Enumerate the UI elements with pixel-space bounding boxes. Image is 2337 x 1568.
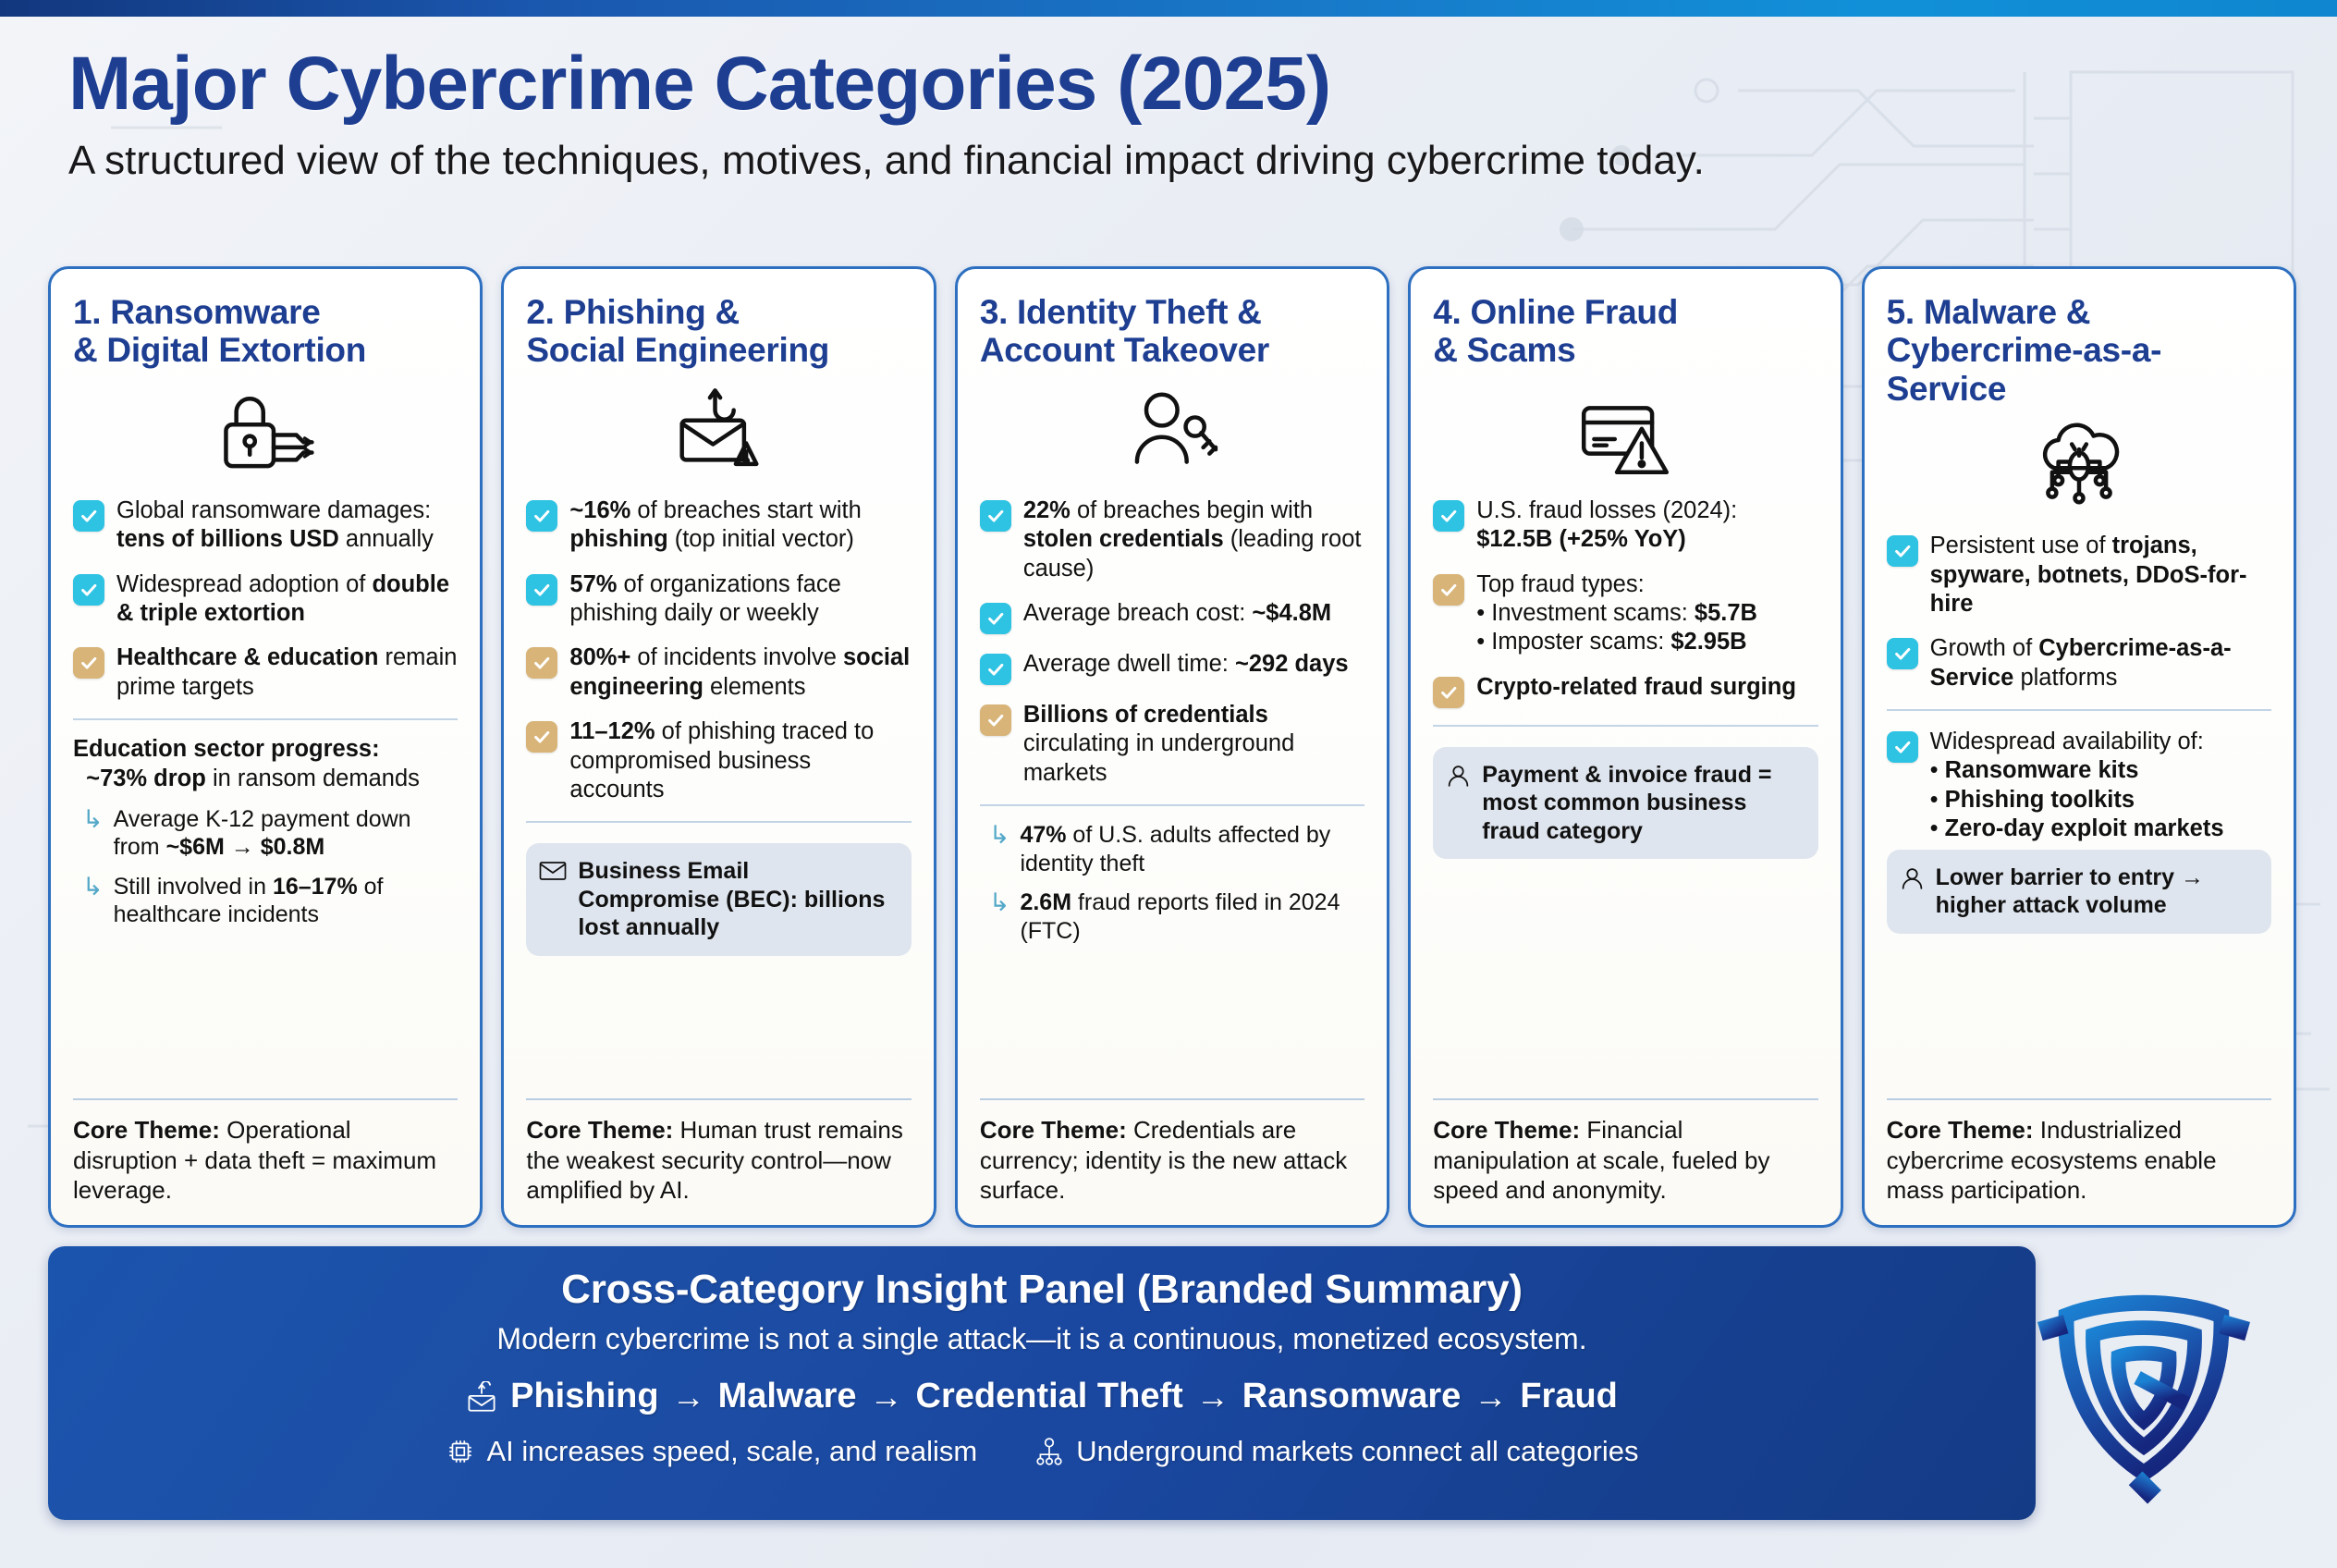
core-theme: Core Theme: Operational disruption + dat… <box>73 1098 458 1205</box>
panel-note-text: AI increases speed, scale, and realism <box>487 1435 978 1468</box>
header: Major Cybercrime Categories (2025) A str… <box>68 44 2269 185</box>
padlock-data-icon <box>73 376 458 485</box>
sub-heading: Education sector progress: ~73% drop in … <box>73 735 458 793</box>
bullet-item: Healthcare & education remain prime targ… <box>73 643 458 702</box>
bullet-item: 22% of breaches begin with stolen creden… <box>980 496 1364 583</box>
panel-title: Cross-Category Insight Panel (Branded Su… <box>561 1267 1523 1313</box>
sub-item: ↳ 2.6M fraud reports filed in 2024 (FTC) <box>980 888 1364 945</box>
callout-text: Payment & invoice fraud = most common bu… <box>1482 761 1803 846</box>
check-icon <box>1433 677 1464 708</box>
bullet-item: Billions of credentials circulating in u… <box>980 701 1364 788</box>
bullet-text: Healthcare & education remain prime targ… <box>116 643 458 702</box>
check-icon <box>1887 638 1918 669</box>
core-theme-label: Core Theme: <box>73 1116 220 1144</box>
core-theme: Core Theme: Financial manipulation at sc… <box>1433 1098 1817 1205</box>
bullet-text: 22% of breaches begin with stolen creden… <box>1023 496 1364 583</box>
check-icon <box>73 647 104 679</box>
check-icon <box>980 500 1011 532</box>
bullet-item: Crypto-related fraud surging <box>1433 673 1817 708</box>
bullet-text: 11–12% of phishing traced to compromised… <box>569 717 911 804</box>
sub-item-text: 2.6M fraud reports filed in 2024 (FTC) <box>1020 888 1364 945</box>
category-card-1[interactable]: 1. Ransomware& Digital Extortion Global … <box>48 266 483 1228</box>
check-icon <box>980 654 1011 685</box>
bullet-item: Persistent use of trojans, spyware, botn… <box>1887 532 2271 619</box>
bullet-text: Widespread adoption of double & triple e… <box>116 570 458 629</box>
corner-arrow-icon: ↳ <box>82 806 104 834</box>
callout-text: Business Email Compromise (BEC): billion… <box>578 857 896 942</box>
panel-subtitle: Modern cybercrime is not a single attack… <box>496 1322 1586 1356</box>
core-theme-label: Core Theme: <box>526 1116 673 1144</box>
corner-arrow-icon: ↳ <box>989 889 1010 917</box>
check-icon <box>526 647 557 679</box>
sub-item-text: 47% of U.S. adults affected by identity … <box>1020 821 1364 877</box>
category-card-4[interactable]: 4. Online Fraud& Scams U.S. fraud losses… <box>1408 266 1842 1228</box>
chain-step-2: Malware <box>718 1377 857 1416</box>
bullet-text: Average dwell time: ~292 days <box>1023 650 1349 679</box>
bullet-item: U.S. fraud losses (2024):$12.5B (+25% Yo… <box>1433 496 1817 555</box>
check-icon <box>980 603 1011 634</box>
bullet-item: Average breach cost: ~$4.8M <box>980 599 1364 634</box>
bullet-list: Global ransomware damages: tens of billi… <box>73 496 458 702</box>
user-icon <box>1446 764 1471 793</box>
bullet-item: Global ransomware damages: tens of billi… <box>73 496 458 555</box>
bullet-item: 80%+ of incidents involve social enginee… <box>526 643 911 702</box>
sub-item-text: Still involved in 16–17% of healthcare i… <box>114 873 459 929</box>
bullet-text: Global ransomware damages: tens of billi… <box>116 496 458 555</box>
core-theme: Core Theme: Human trust remains the weak… <box>526 1098 911 1205</box>
user-icon <box>1900 866 1925 896</box>
panel-notes: AI increases speed, scale, and realism U… <box>446 1435 1639 1468</box>
section-divider <box>1433 725 1817 727</box>
panel-note-1: AI increases speed, scale, and realism <box>446 1435 978 1468</box>
bullet-text: 57% of organizations face phishing daily… <box>569 570 911 629</box>
core-theme-label: Core Theme: <box>1887 1116 2034 1144</box>
bullet-item: Widespread availability of:• Ransomware … <box>1887 728 2271 843</box>
category-card-2[interactable]: 2. Phishing &Social Engineering ~16% of … <box>501 266 936 1228</box>
check-icon <box>526 500 557 532</box>
user-key-icon <box>980 376 1364 485</box>
sub-item: ↳ Average K-12 payment down from ~$6M → … <box>73 805 458 862</box>
sub-block: Education sector progress: ~73% drop in … <box>73 735 458 940</box>
check-icon <box>980 704 1011 736</box>
shield-maze-logo <box>2019 1265 2269 1507</box>
check-icon <box>1433 500 1464 532</box>
panel-note-2: Underground markets connect all categori… <box>1034 1435 1638 1468</box>
attack-chain-flow: Phishing→Malware→Credential Theft→Ransom… <box>466 1377 1618 1416</box>
bullet-item: 11–12% of phishing traced to compromised… <box>526 717 911 804</box>
chain-arrow-icon: → <box>870 1378 903 1416</box>
sub-item: ↳ 47% of U.S. adults affected by identit… <box>980 821 1364 877</box>
sub-block: ↳ 47% of U.S. adults affected by identit… <box>980 821 1364 956</box>
bullet-item: Average dwell time: ~292 days <box>980 650 1364 685</box>
card-title: 1. Ransomware& Digital Extortion <box>73 293 458 373</box>
page-subtitle: A structured view of the techniques, mot… <box>68 138 2269 185</box>
card-title: 4. Online Fraud& Scams <box>1433 293 1817 373</box>
chain-arrow-icon: → <box>672 1378 705 1416</box>
cloud-bug-icon <box>1887 411 2271 521</box>
check-icon <box>526 574 557 606</box>
corner-arrow-icon: ↳ <box>82 874 104 901</box>
sub-item: ↳ Still involved in 16–17% of healthcare… <box>73 873 458 929</box>
bullet-text: Crypto-related fraud surging <box>1476 673 1796 702</box>
chain-arrow-icon: → <box>1196 1378 1230 1416</box>
bullet-text: Persistent use of trojans, spyware, botn… <box>1930 532 2271 619</box>
secondary-bullet-list: Widespread availability of:• Ransomware … <box>1887 728 2271 843</box>
section-divider <box>980 804 1364 806</box>
bullet-list: U.S. fraud losses (2024):$12.5B (+25% Yo… <box>1433 496 1817 708</box>
bullet-text: ~16% of breaches start with phishing (to… <box>569 496 911 555</box>
bullet-text: U.S. fraud losses (2024):$12.5B (+25% Yo… <box>1476 496 1737 555</box>
bullet-item: 57% of organizations face phishing daily… <box>526 570 911 629</box>
bullet-list: 22% of breaches begin with stolen creden… <box>980 496 1364 788</box>
callout-box: Lower barrier to entry → higher attack v… <box>1887 850 2271 934</box>
check-icon <box>73 500 104 532</box>
core-theme-label: Core Theme: <box>1433 1116 1580 1144</box>
callout-box: Payment & invoice fraud = most common bu… <box>1433 747 1817 860</box>
bullet-item: Widespread adoption of double & triple e… <box>73 570 458 629</box>
category-card-3[interactable]: 3. Identity Theft &Account Takeover 22% … <box>955 266 1389 1228</box>
phishing-chain-icon <box>466 1381 497 1413</box>
card-title: 3. Identity Theft &Account Takeover <box>980 293 1364 373</box>
credit-card-alert-icon <box>1433 376 1817 485</box>
chain-step-5: Fraud <box>1520 1377 1618 1416</box>
chain-arrow-icon: → <box>1474 1378 1507 1416</box>
check-icon <box>1433 574 1464 606</box>
callout-text: Lower barrier to entry → higher attack v… <box>1936 864 2257 920</box>
bullet-text: Average breach cost: ~$4.8M <box>1023 599 1331 628</box>
top-accent-bar <box>0 0 2337 17</box>
card-title: 5. Malware &Cybercrime-as-a-Service <box>1887 293 2271 408</box>
bullet-item: Top fraud types:• Investment scams: $5.7… <box>1433 570 1817 657</box>
check-icon <box>526 721 557 753</box>
corner-arrow-icon: ↳ <box>989 822 1010 850</box>
phishing-envelope-hook-icon <box>526 376 911 485</box>
category-cards-row: 1. Ransomware& Digital Extortion Global … <box>48 266 2296 1228</box>
core-theme-label: Core Theme: <box>980 1116 1127 1144</box>
check-icon <box>1887 731 1918 763</box>
bullet-item: ~16% of breaches start with phishing (to… <box>526 496 911 555</box>
chip-ai-icon <box>446 1437 475 1466</box>
network-nodes-icon <box>1034 1437 1064 1466</box>
envelope-icon <box>539 860 567 887</box>
sub-item-text: Average K-12 payment down from ~$6M → $0… <box>114 805 459 862</box>
callout-box: Business Email Compromise (BEC): billion… <box>526 843 911 956</box>
section-divider <box>526 821 911 823</box>
check-icon <box>73 574 104 606</box>
bullet-text: Widespread availability of:• Ransomware … <box>1930 728 2224 843</box>
panel-note-text: Underground markets connect all categori… <box>1076 1435 1638 1468</box>
core-theme: Core Theme: Credentials are currency; id… <box>980 1098 1364 1205</box>
section-divider <box>1887 709 2271 711</box>
chain-step-3: Credential Theft <box>916 1377 1183 1416</box>
chain-step-4: Ransomware <box>1242 1377 1462 1416</box>
core-theme: Core Theme: Industrialized cybercrime ec… <box>1887 1098 2271 1205</box>
page-title: Major Cybercrime Categories (2025) <box>68 44 2269 125</box>
section-divider <box>73 718 458 720</box>
cross-category-insight-panel: Cross-Category Insight Panel (Branded Su… <box>48 1246 2036 1520</box>
chain-step-1: Phishing <box>510 1377 658 1416</box>
bullet-list: ~16% of breaches start with phishing (to… <box>526 496 911 804</box>
check-icon <box>1887 535 1918 567</box>
bullet-text: Billions of credentials circulating in u… <box>1023 701 1364 788</box>
bullet-list: Persistent use of trojans, spyware, botn… <box>1887 532 2271 692</box>
card-title: 2. Phishing &Social Engineering <box>526 293 911 373</box>
category-card-5[interactable]: 5. Malware &Cybercrime-as-a-Service Pers… <box>1862 266 2296 1228</box>
bullet-text: 80%+ of incidents involve social enginee… <box>569 643 911 702</box>
bullet-text: Top fraud types:• Investment scams: $5.7… <box>1476 570 1757 657</box>
bullet-item: Growth of Cybercrime-as-a-Service platfo… <box>1887 634 2271 692</box>
bullet-text: Growth of Cybercrime-as-a-Service platfo… <box>1930 634 2271 692</box>
